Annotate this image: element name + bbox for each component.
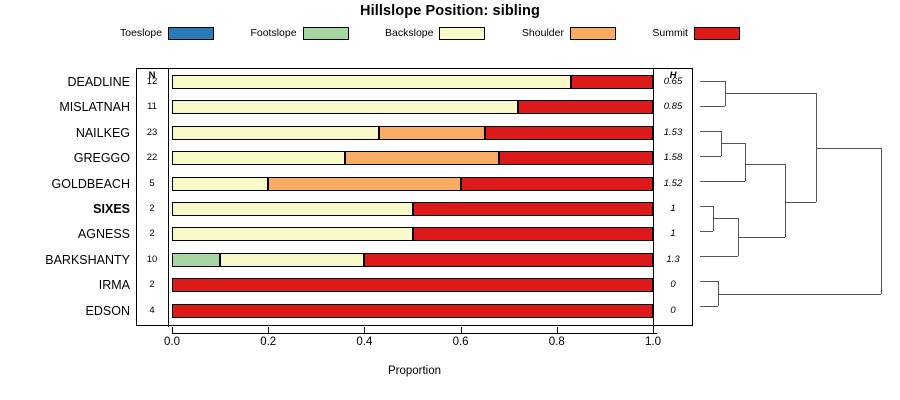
dendrogram-horizontal-link — [700, 156, 721, 157]
bar-segment-summit[interactable] — [172, 278, 653, 292]
dendrogram-horizontal-link — [700, 181, 745, 182]
bar-segment-summit[interactable] — [413, 202, 654, 216]
row-label-barkshanty: BARKSHANTY — [0, 250, 130, 270]
x-axis-tick-label: 0.8 — [537, 336, 577, 348]
row-label-nailkeg: NAILKEG — [0, 123, 130, 143]
row-n-value: 2 — [136, 275, 168, 295]
dendrogram-horizontal-link — [745, 164, 785, 165]
stacked-bar — [172, 75, 653, 89]
x-axis-tick-label: 1.0 — [633, 336, 673, 348]
x-axis-tick-label: 0.4 — [344, 336, 384, 348]
bar-segment-footslope[interactable] — [172, 253, 220, 267]
legend-item-backslope[interactable]: Backslope — [385, 27, 485, 40]
row-h-value: 0.85 — [653, 97, 693, 117]
bar-segment-shoulder[interactable] — [345, 151, 499, 165]
x-axis-tick — [557, 327, 558, 333]
row-h-value: 0.65 — [653, 72, 693, 92]
row-h-value: 1 — [653, 224, 693, 244]
dendrogram-horizontal-link — [700, 106, 725, 107]
dendrogram-horizontal-link — [700, 206, 713, 207]
dendrogram-horizontal-link — [785, 202, 816, 203]
stacked-bar — [172, 202, 653, 216]
legend-item-footslope[interactable]: Footslope — [250, 27, 348, 40]
legend: ToeslopeFootslopeBackslopeShoulderSummit — [120, 24, 740, 42]
bar-segment-summit[interactable] — [172, 304, 653, 318]
row-n-value: 23 — [136, 123, 168, 143]
dendrogram-horizontal-link — [738, 237, 785, 238]
row-label-goldbeach: GOLDBEACH — [0, 174, 130, 194]
row-h-value: 0 — [653, 301, 693, 321]
dendrogram-horizontal-link — [700, 81, 725, 82]
bar-segment-backslope[interactable] — [172, 75, 571, 89]
row-label-greggo: GREGGO — [0, 148, 130, 168]
x-axis-line — [172, 333, 657, 334]
row-label-deadline: DEADLINE — [0, 72, 130, 92]
row-n-value: 4 — [136, 301, 168, 321]
chart-root: Hillslope Position: sibling ToeslopeFoot… — [0, 0, 900, 400]
row-n-value: 10 — [136, 250, 168, 270]
legend-label: Shoulder — [522, 28, 564, 39]
row-n-value: 11 — [136, 97, 168, 117]
row-label-irma: IRMA — [0, 275, 130, 295]
x-axis-tick — [172, 327, 173, 333]
stacked-bar — [172, 278, 653, 292]
legend-label: Summit — [652, 28, 688, 39]
bar-segment-backslope[interactable] — [172, 100, 518, 114]
page-title: Hillslope Position: sibling — [0, 3, 900, 19]
bar-segment-backslope[interactable] — [172, 126, 379, 140]
dendrogram-horizontal-link — [700, 306, 718, 307]
row-label-edson: EDSON — [0, 301, 130, 321]
row-h-value: 1.52 — [653, 174, 693, 194]
dendrogram-vertical-link — [785, 164, 786, 237]
dendrogram-horizontal-link — [725, 93, 816, 94]
stacked-bar — [172, 126, 653, 140]
bar-segment-shoulder[interactable] — [379, 126, 485, 140]
bar-segment-summit[interactable] — [413, 227, 654, 241]
bar-segment-shoulder[interactable] — [268, 177, 460, 191]
legend-swatch — [168, 27, 214, 40]
legend-swatch — [570, 27, 616, 40]
row-n-value: 2 — [136, 199, 168, 219]
dendrogram-horizontal-link — [700, 231, 713, 232]
legend-swatch — [303, 27, 349, 40]
x-axis-title: Proportion — [172, 365, 657, 377]
legend-swatch — [694, 27, 740, 40]
legend-label: Backslope — [385, 28, 433, 39]
legend-item-toeslope[interactable]: Toeslope — [120, 27, 214, 40]
row-h-value: 1.53 — [653, 123, 693, 143]
row-n-value: 5 — [136, 174, 168, 194]
stacked-bar — [172, 227, 653, 241]
dendrogram-horizontal-link — [816, 148, 881, 149]
bar-segment-summit[interactable] — [571, 75, 653, 89]
row-h-value: 1.58 — [653, 148, 693, 168]
bar-segment-summit[interactable] — [461, 177, 653, 191]
stacked-bar — [172, 151, 653, 165]
dendrogram-vertical-link — [745, 143, 746, 181]
x-axis-tick — [653, 327, 654, 333]
dendrogram-horizontal-link — [713, 218, 738, 219]
legend-swatch — [439, 27, 485, 40]
bar-segment-summit[interactable] — [485, 126, 653, 140]
dendrogram-vertical-link — [881, 148, 882, 294]
stacked-bar — [172, 100, 653, 114]
x-axis-tick-label: 0.0 — [152, 336, 192, 348]
row-h-value: 0 — [653, 275, 693, 295]
row-n-value: 2 — [136, 224, 168, 244]
dendrogram-horizontal-link — [700, 131, 721, 132]
row-label-sixes: SIXES — [0, 199, 130, 219]
stacked-bar — [172, 177, 653, 191]
bar-segment-backslope[interactable] — [172, 202, 413, 216]
dendrogram-horizontal-link — [718, 294, 881, 295]
x-axis-tick-label: 0.2 — [248, 336, 288, 348]
dendrogram-horizontal-link — [700, 256, 738, 257]
legend-item-shoulder[interactable]: Shoulder — [522, 27, 616, 40]
dendrogram — [693, 68, 900, 326]
stacked-bar — [172, 304, 653, 318]
row-h-value: 1.3 — [653, 250, 693, 270]
legend-label: Toeslope — [120, 28, 162, 39]
row-label-mislatnah: MISLATNAH — [0, 97, 130, 117]
bar-segment-backslope[interactable] — [220, 253, 364, 267]
row-label-agness: AGNESS — [0, 224, 130, 244]
bar-segment-backslope[interactable] — [172, 177, 268, 191]
legend-label: Footslope — [250, 28, 296, 39]
row-h-value: 1 — [653, 199, 693, 219]
row-n-value: 12 — [136, 72, 168, 92]
dendrogram-horizontal-link — [700, 281, 718, 282]
x-axis-tick-label: 0.6 — [441, 336, 481, 348]
dendrogram-horizontal-link — [721, 143, 745, 144]
bar-segment-backslope[interactable] — [172, 227, 413, 241]
bar-segment-summit[interactable] — [364, 253, 653, 267]
legend-item-summit[interactable]: Summit — [652, 27, 740, 40]
x-axis-tick — [364, 327, 365, 333]
row-n-value: 22 — [136, 148, 168, 168]
bar-segment-summit[interactable] — [518, 100, 653, 114]
x-axis-tick — [461, 327, 462, 333]
stacked-bar — [172, 253, 653, 267]
x-axis-tick — [268, 327, 269, 333]
bar-segment-backslope[interactable] — [172, 151, 345, 165]
bar-segment-summit[interactable] — [499, 151, 653, 165]
